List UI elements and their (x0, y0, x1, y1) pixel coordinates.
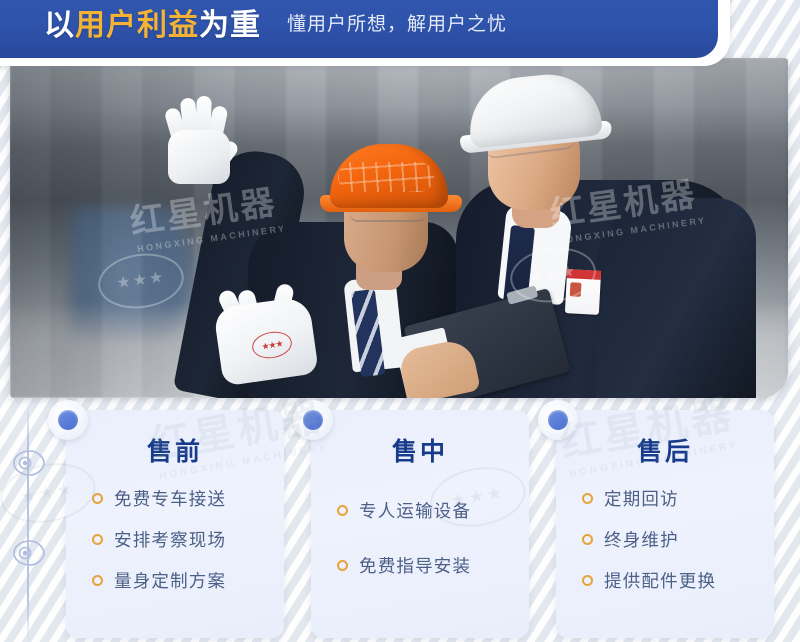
card-marker-inner (58, 410, 78, 430)
card-marker-dot-icon (538, 400, 578, 440)
list-item-label: 免费指导安装 (359, 553, 471, 578)
list-item-label: 量身定制方案 (114, 568, 226, 593)
list-item: 量身定制方案 (92, 568, 284, 593)
bullet-ring-icon (582, 575, 593, 586)
list-item: 提供配件更换 (582, 568, 774, 593)
list-item-label: 免费专车接送 (114, 486, 226, 511)
service-card-during-sale[interactable]: 售中 专人运输设备 免费指导安装 (311, 410, 529, 638)
list-item: 终身维护 (582, 527, 774, 552)
promo-page: ★★★ 红星机器 HONGXING MACHINERY ★★★ (0, 0, 800, 642)
worker-raised-glove (162, 92, 238, 184)
card-title: 售中 (311, 432, 529, 468)
bullet-ring-icon (582, 534, 593, 545)
banner-blue-plate: 以用户利益为重 懂用户所想，解用户之忧 (0, 0, 718, 58)
card-marker-dot-icon (48, 400, 88, 440)
card-title: 售后 (556, 432, 774, 468)
hero-photo: ★★★ 红星机器 HONGXING MACHINERY ★★★ (10, 58, 788, 398)
engineer-white-helmet (446, 72, 776, 398)
card-marker-dot-icon (293, 400, 333, 440)
list-item-label: 安排考察现场 (114, 527, 226, 552)
card-title: 售前 (66, 432, 284, 468)
card-marker-inner (303, 410, 323, 430)
worker-lower-glove: ★★★ (218, 284, 322, 380)
glove-palm (168, 130, 230, 184)
bullet-ring-icon (337, 505, 348, 516)
card-marker-inner (548, 410, 568, 430)
service-card-aftersale[interactable]: 售后 定期回访 终身维护 提供配件更换 (556, 410, 774, 638)
worker-orange-hardhat (330, 144, 448, 208)
engineer-shoulder (596, 198, 756, 398)
service-cards: 售前 免费专车接送 安排考察现场 量身定制方案 售中 (0, 402, 800, 642)
service-card-presale[interactable]: 售前 免费专车接送 安排考察现场 量身定制方案 (66, 410, 284, 638)
title-highlight: 用户利益 (75, 9, 199, 42)
bullet-ring-icon (92, 575, 103, 586)
title-part-2: 为重 (199, 9, 261, 42)
list-item-label: 提供配件更换 (604, 568, 716, 593)
page-subtitle: 懂用户所想，解用户之忧 (287, 9, 507, 36)
list-item: 定期回访 (582, 486, 774, 511)
list-item-label: 终身维护 (604, 527, 679, 552)
list-item-label: 定期回访 (604, 486, 679, 511)
bullet-ring-icon (582, 493, 593, 504)
header-banner: 以用户利益为重 懂用户所想，解用户之忧 (0, 0, 740, 76)
card-item-list: 免费专车接送 安排考察现场 量身定制方案 (66, 486, 284, 593)
bullet-ring-icon (92, 534, 103, 545)
title-part-1: 以 (44, 9, 75, 42)
engineer-white-hardhat (465, 69, 603, 148)
list-item: 安排考察现场 (92, 527, 284, 552)
bullet-ring-icon (337, 560, 348, 571)
card-item-list: 定期回访 终身维护 提供配件更换 (556, 486, 774, 593)
page-title: 以用户利益为重 (44, 0, 261, 44)
list-item: 免费专车接送 (92, 486, 284, 511)
list-item: 免费指导安装 (337, 553, 529, 578)
